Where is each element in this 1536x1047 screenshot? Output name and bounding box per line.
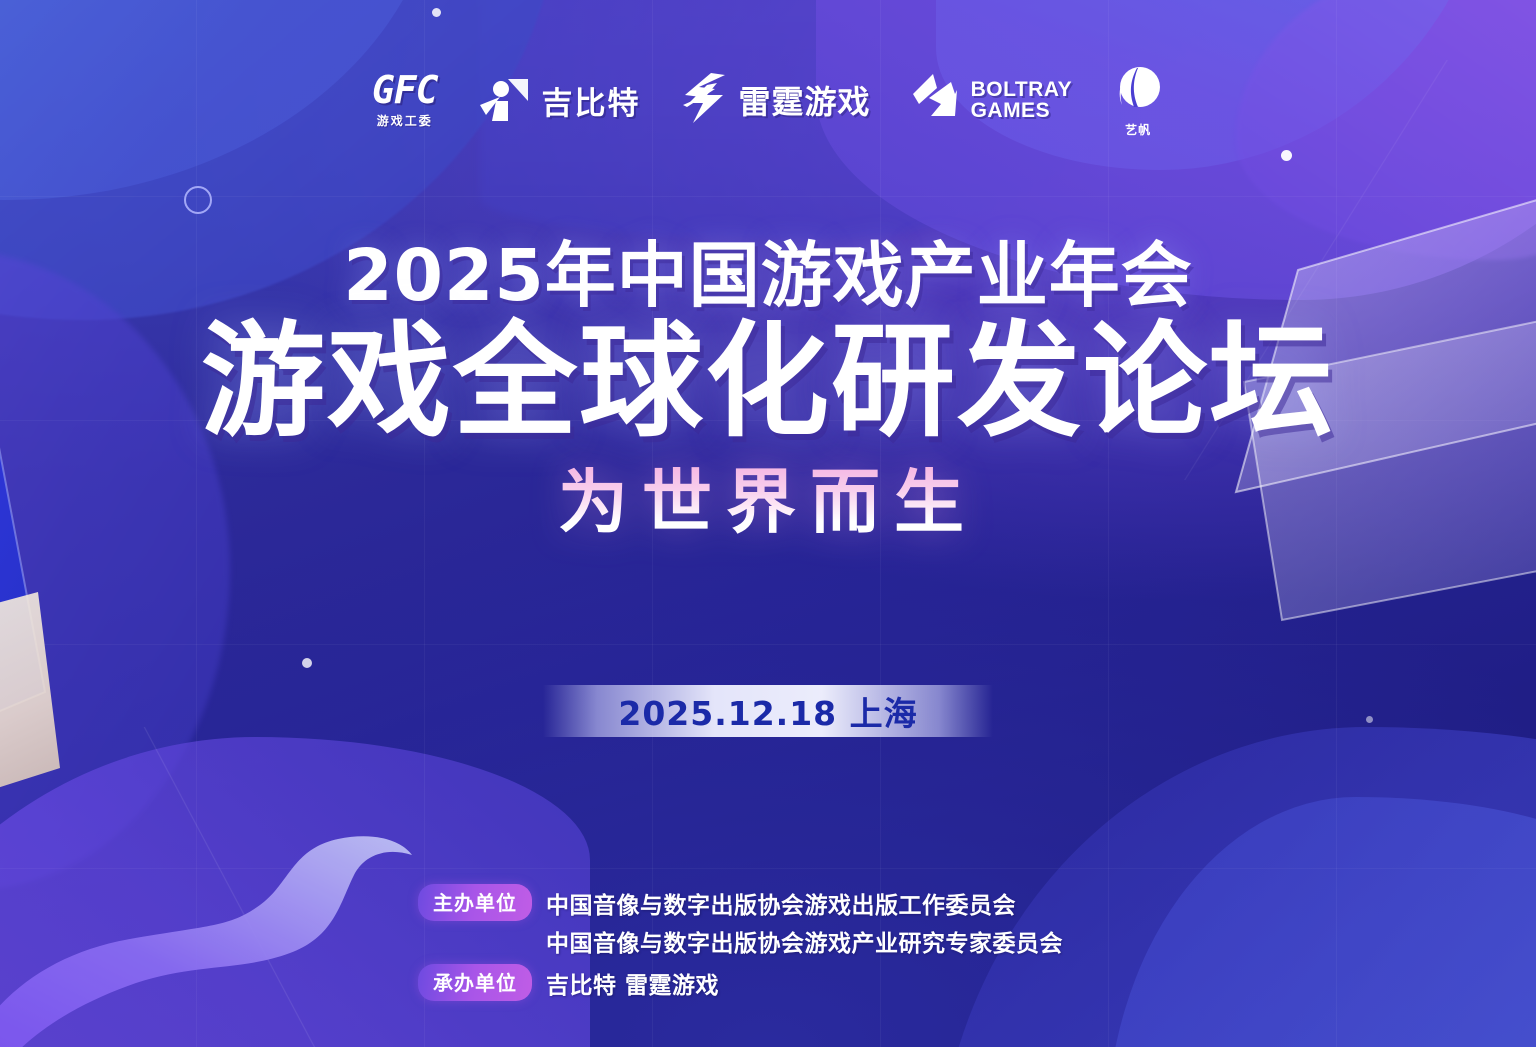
gfc-logo: GFC 游戏工委 (372, 71, 438, 129)
organizer-row-host: 主办单位 中国音像与数字出版协会游戏出版工作委员会 中国音像与数字出版协会游戏产… (418, 884, 1063, 958)
event-tagline: 为世界而生 (0, 467, 1536, 537)
gbits-logo: 吉比特 (478, 71, 641, 130)
decorative-dot-top (432, 8, 441, 17)
event-main-title: 游戏全球化研发论坛 (0, 319, 1536, 445)
organizer-coorganizer-lines: 吉比特 雷霆游戏 (546, 964, 719, 1000)
date-location-bar: 2025.12.18 上海 (543, 685, 993, 737)
boltray-wordmark-block: BOLTRAY GAMES (971, 79, 1073, 122)
yifan-logo: 艺帆 (1112, 63, 1164, 138)
gfc-sub-label: 游戏工委 (377, 112, 433, 129)
decorative-ring-left (184, 186, 212, 214)
organizer-host-line-1: 中国音像与数字出版协会游戏出版工作委员会 (546, 886, 1063, 920)
title-block: 2025年中国游戏产业年会 游戏全球化研发论坛 为世界而生 (0, 240, 1536, 537)
poster-canvas: GFC 游戏工委 吉比特 雷霆游戏 (0, 0, 1536, 1047)
ribbon-decoration (0, 777, 490, 1047)
boltray-mark-icon (911, 72, 961, 129)
leiting-logo: 雷霆游戏 (681, 71, 871, 130)
event-subtitle: 2025年中国游戏产业年会 (0, 240, 1536, 311)
background-blob-bottom-right-inner (1106, 797, 1536, 1047)
organizer-host-lines: 中国音像与数字出版协会游戏出版工作委员会 中国音像与数字出版协会游戏产业研究专家… (546, 884, 1063, 958)
gfc-wordmark: GFC (372, 71, 438, 109)
sail-icon (1112, 63, 1164, 120)
date-location-text: 2025.12.18 上海 (618, 687, 917, 735)
organizer-coorganizer-line-1: 吉比特 雷霆游戏 (546, 966, 719, 1000)
glass-panel-left-cream (0, 592, 120, 822)
gbits-wordmark: 吉比特 (542, 78, 641, 123)
badge-host: 主办单位 (418, 884, 532, 921)
decorative-dot-bottom-right (1366, 716, 1373, 723)
boltray-wordmark-line1: BOLTRAY (971, 79, 1073, 100)
organizer-block: 主办单位 中国音像与数字出版协会游戏出版工作委员会 中国音像与数字出版协会游戏产… (418, 884, 1063, 1001)
lightning-bolt-icon (681, 71, 729, 130)
gbits-mark-icon (478, 71, 532, 130)
yifan-wordmark: 艺帆 (1125, 121, 1151, 138)
boltray-wordmark-line2: GAMES (971, 100, 1073, 121)
decorative-dot-right (1281, 150, 1292, 161)
organizer-host-line-2: 中国音像与数字出版协会游戏产业研究专家委员会 (546, 924, 1063, 958)
organizer-row-coorganizer: 承办单位 吉比特 雷霆游戏 (418, 964, 1063, 1001)
decorative-dot-mid-left (302, 658, 312, 668)
leiting-wordmark: 雷霆游戏 (739, 77, 871, 123)
boltray-logo: BOLTRAY GAMES (911, 72, 1073, 129)
badge-coorganizer: 承办单位 (418, 964, 532, 1001)
sponsor-logo-row: GFC 游戏工委 吉比特 雷霆游戏 (0, 58, 1536, 142)
